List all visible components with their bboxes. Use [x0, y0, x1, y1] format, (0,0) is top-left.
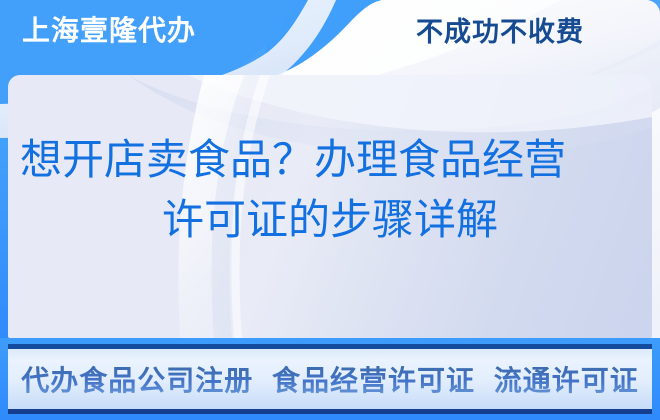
brand-name: 上海壹隆代办	[22, 17, 196, 45]
headline-line-1: 想开店卖食品？办理食品经营	[8, 130, 652, 190]
keyword-bar: 代办食品公司注册 食品经营许可证 流通许可证	[8, 344, 652, 414]
promo-banner: 上海壹隆代办 不成功不收费 想开店卖食品？办理食品经营 许可证的步骤详解 代办食…	[0, 0, 660, 420]
keyword-item: 流通许可证	[494, 365, 639, 396]
keyword-item: 食品经营许可证	[272, 365, 475, 396]
headline: 想开店卖食品？办理食品经营 许可证的步骤详解	[8, 130, 652, 249]
bottom-rail: 代办食品公司注册 食品经营许可证 流通许可证	[0, 338, 660, 420]
keyword-list: 代办食品公司注册 食品经营许可证 流通许可证	[21, 359, 639, 399]
headline-line-2: 许可证的步骤详解	[8, 190, 652, 250]
keyword-item: 代办食品公司注册	[21, 365, 253, 396]
tagline: 不成功不收费	[385, 18, 615, 48]
